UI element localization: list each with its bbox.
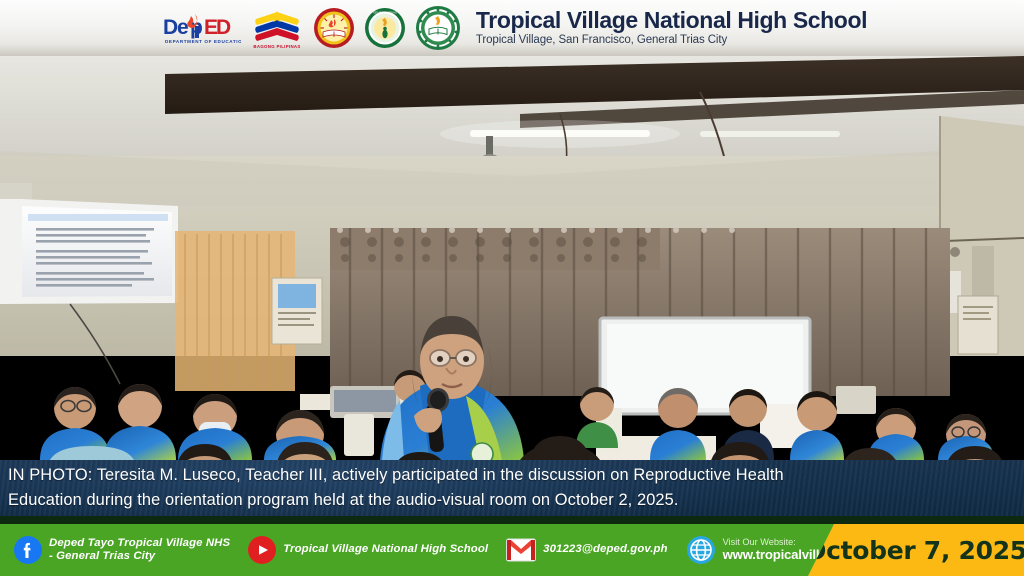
whiteboard bbox=[600, 318, 810, 414]
facebook-icon[interactable] bbox=[14, 536, 42, 564]
page-footer: Deped Tayo Tropical Village NHS - Genera… bbox=[0, 516, 1024, 576]
page-title: Tropical Village National High School bbox=[476, 8, 867, 32]
youtube-icon[interactable] bbox=[248, 536, 276, 564]
youtube-label: Tropical Village National High School bbox=[283, 543, 488, 557]
svg-text:DEPARTMENT OF EDUCATION: DEPARTMENT OF EDUCATION bbox=[165, 39, 241, 44]
photo-caption: IN PHOTO: Teresita M. Luseco, Teacher II… bbox=[0, 460, 1024, 516]
page-header: D e p E D DEPARTMENT OF EDUCATION BAGONG… bbox=[0, 0, 1024, 56]
deped-logo: D e p E D DEPARTMENT OF EDUCATION bbox=[157, 8, 241, 48]
footer-divider bbox=[0, 516, 1024, 524]
facebook-line-1: Deped Tayo Tropical Village NHS bbox=[49, 537, 230, 551]
svg-text:e: e bbox=[177, 16, 189, 39]
caption-line-2: Education during the orientation program… bbox=[8, 488, 1016, 513]
footer-email[interactable]: 301223@deped.gov.ph bbox=[506, 538, 667, 562]
bagong-pilipinas-logo: BAGONG PILIPINAS bbox=[250, 6, 304, 50]
svg-text:BAGONG PILIPINAS: BAGONG PILIPINAS bbox=[253, 44, 300, 49]
poster-root: D e p E D DEPARTMENT OF EDUCATION BAGONG… bbox=[0, 0, 1024, 576]
svg-text:D: D bbox=[216, 16, 231, 39]
school-address: Tropical Village, San Francisco, General… bbox=[476, 33, 867, 49]
footer-facebook[interactable]: Deped Tayo Tropical Village NHS - Genera… bbox=[14, 536, 230, 564]
photo-illustration bbox=[0, 56, 1024, 460]
date-badge: October 7, 2025 bbox=[808, 524, 1024, 576]
email-label: 301223@deped.gov.ph bbox=[543, 543, 667, 557]
facebook-label: Deped Tayo Tropical Village NHS - Genera… bbox=[49, 537, 230, 564]
division-seal-logo bbox=[313, 7, 355, 49]
header-text-block: Tropical Village National High School Tr… bbox=[476, 8, 867, 49]
svg-text:D: D bbox=[163, 16, 178, 39]
gmail-icon[interactable] bbox=[506, 538, 536, 562]
footer-youtube[interactable]: Tropical Village National High School bbox=[248, 536, 488, 564]
caption-line-1: IN PHOTO: Teresita M. Luseco, Teacher II… bbox=[8, 463, 1016, 488]
school-seal-logo bbox=[415, 5, 461, 51]
orientation-program-photo bbox=[0, 56, 1024, 460]
date-text: October 7, 2025 bbox=[805, 536, 1024, 565]
facebook-line-2: - General Trias City bbox=[49, 550, 230, 564]
globe-icon[interactable] bbox=[686, 535, 716, 565]
svg-text:GENERAL TRIAS: GENERAL TRIAS bbox=[373, 11, 397, 15]
wall-mounted-tv bbox=[0, 198, 178, 384]
city-seal-logo: GENERAL TRIAS bbox=[364, 7, 406, 49]
